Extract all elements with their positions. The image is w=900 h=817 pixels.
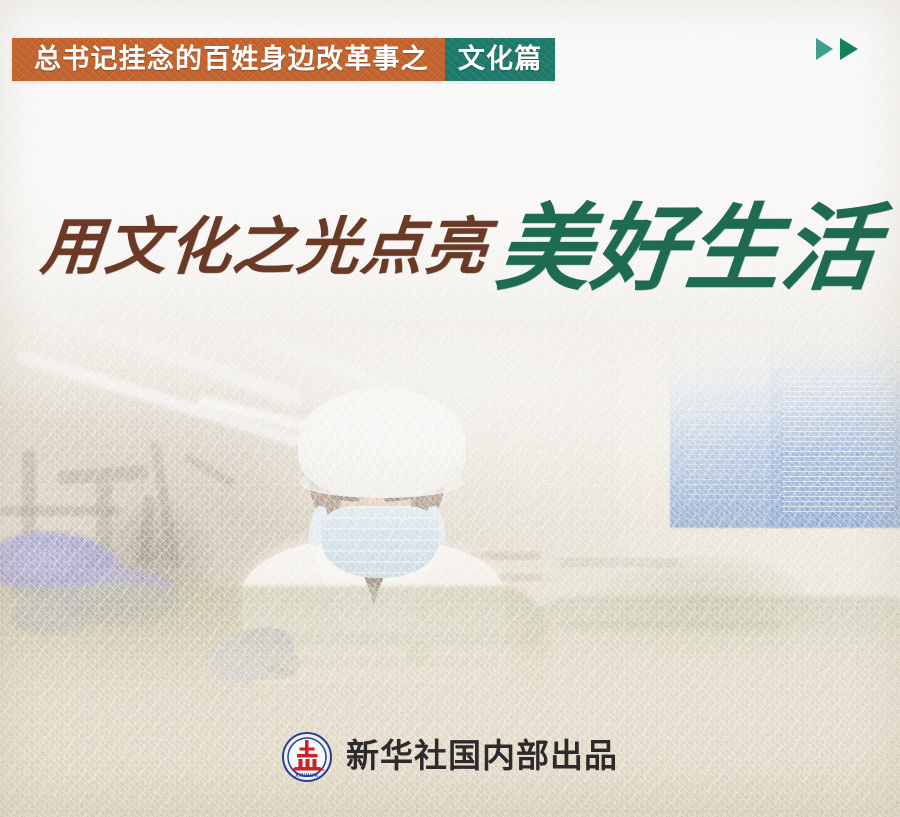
header-banner: 总书记挂念的百姓身边改革事之 文化篇 — [12, 38, 555, 81]
arrow-right-icon — [816, 38, 833, 60]
arrow-decoration — [816, 38, 858, 60]
banner-series-label: 总书记挂念的百姓身边改革事之 — [12, 38, 445, 81]
poster-title: 用文化之光点亮 美好生活 — [0, 148, 900, 293]
xinhua-logo-icon: XINHUA — [282, 732, 332, 782]
footer-credit-text: 新华社国内部出品 — [346, 741, 618, 774]
banner-series-text: 总书记挂念的百姓身边改革事之 — [34, 46, 429, 73]
title-green-segment: 美好生活 — [492, 203, 882, 297]
banner-category-tag: 文化篇 — [445, 38, 556, 81]
banner-category-text: 文化篇 — [458, 46, 543, 73]
footer-credit: XINHUA 新华社国内部出品 — [0, 732, 900, 782]
arrow-right-icon — [840, 38, 858, 60]
svg-text:XINHUA: XINHUA — [295, 773, 319, 779]
poster-canvas: 总书记挂念的百姓身边改革事之 文化篇 用文化之光点亮 美好生活 — [0, 0, 900, 817]
title-brown-segment: 用文化之光点亮 — [38, 217, 491, 279]
